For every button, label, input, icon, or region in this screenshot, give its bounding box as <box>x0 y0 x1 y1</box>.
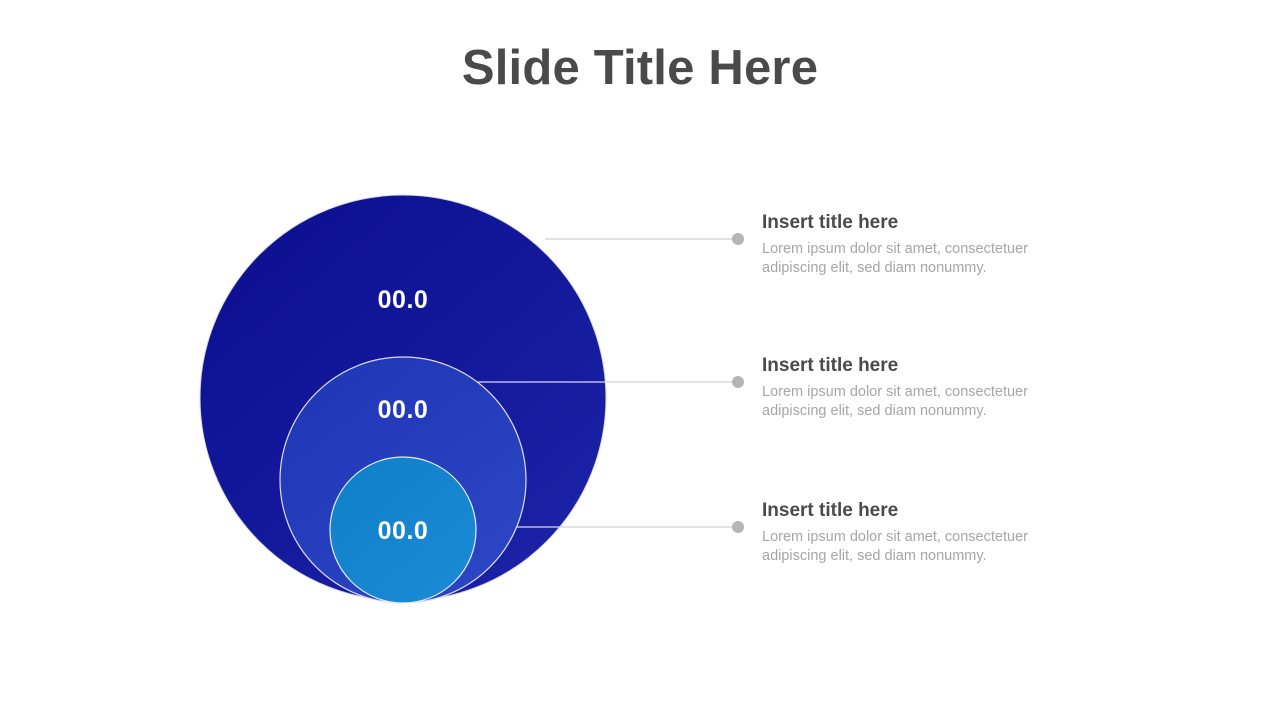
callout-1[interactable]: Insert title here Lorem ipsum dolor sit … <box>762 211 1092 277</box>
callout-2[interactable]: Insert title here Lorem ipsum dolor sit … <box>762 354 1092 420</box>
callout-2-title: Insert title here <box>762 354 1092 378</box>
connector-dot-inner[interactable] <box>732 521 744 533</box>
inner-bubble-value: 00.0 <box>343 517 463 546</box>
callout-2-body: Lorem ipsum dolor sit amet, consectetuer… <box>762 383 1067 420</box>
connector-dot-middle[interactable] <box>732 376 744 388</box>
connector-dot-outer[interactable] <box>732 233 744 245</box>
outer-bubble-value: 00.0 <box>343 286 463 315</box>
callout-3[interactable]: Insert title here Lorem ipsum dolor sit … <box>762 499 1092 565</box>
callout-3-title: Insert title here <box>762 499 1092 523</box>
middle-bubble-value: 00.0 <box>343 396 463 425</box>
callout-1-body: Lorem ipsum dolor sit amet, consectetuer… <box>762 240 1067 277</box>
callout-3-body: Lorem ipsum dolor sit amet, consectetuer… <box>762 528 1067 565</box>
callout-1-title: Insert title here <box>762 211 1092 235</box>
